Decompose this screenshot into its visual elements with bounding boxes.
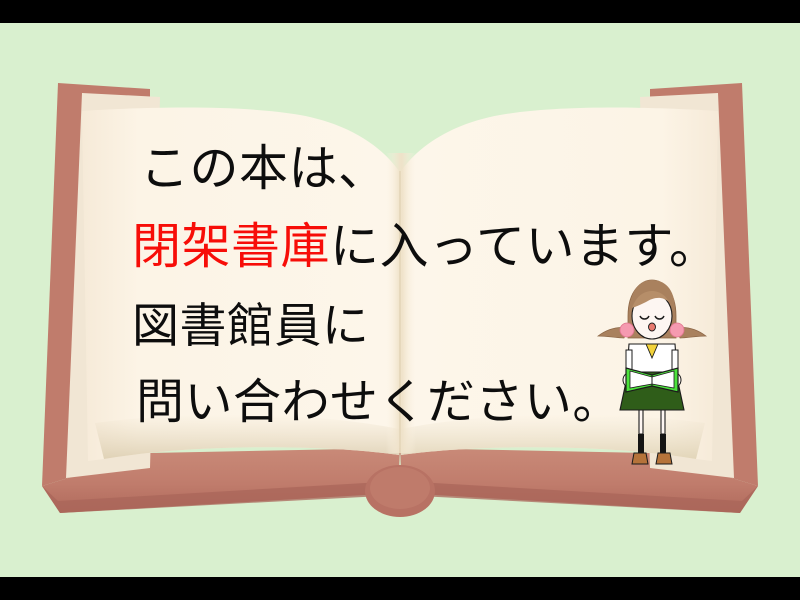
- message-line-1: この本は、: [140, 129, 387, 200]
- message-line-2-rest: に入っています。: [330, 218, 719, 275]
- girl-pigtail-right: [670, 323, 706, 338]
- letterbox-top: [0, 0, 800, 23]
- girl-reading-illustration: [596, 276, 708, 471]
- girl-hair-tie-left: [620, 323, 634, 337]
- girl-mouth: [649, 323, 656, 331]
- message-line-3: 図書館員に: [132, 287, 369, 356]
- girl-hair-tie-right: [670, 323, 684, 337]
- slide-canvas: この本は、 閉架書庫に入っています。 図書館員に 問い合わせください。: [0, 23, 800, 577]
- message-line-2: 閉架書庫に入っています。: [132, 207, 719, 278]
- girl-legs: [632, 404, 672, 464]
- girl-pigtail-left: [598, 323, 634, 338]
- slide-stage: この本は、 閉架書庫に入っています。 図書館員に 問い合わせください。: [0, 0, 800, 600]
- girl-blouse: [627, 344, 677, 372]
- letterbox-bottom: [0, 577, 800, 600]
- message-line-4: 問い合わせください。: [136, 362, 621, 432]
- closed-stacks-highlight: 閉架書庫: [132, 218, 330, 275]
